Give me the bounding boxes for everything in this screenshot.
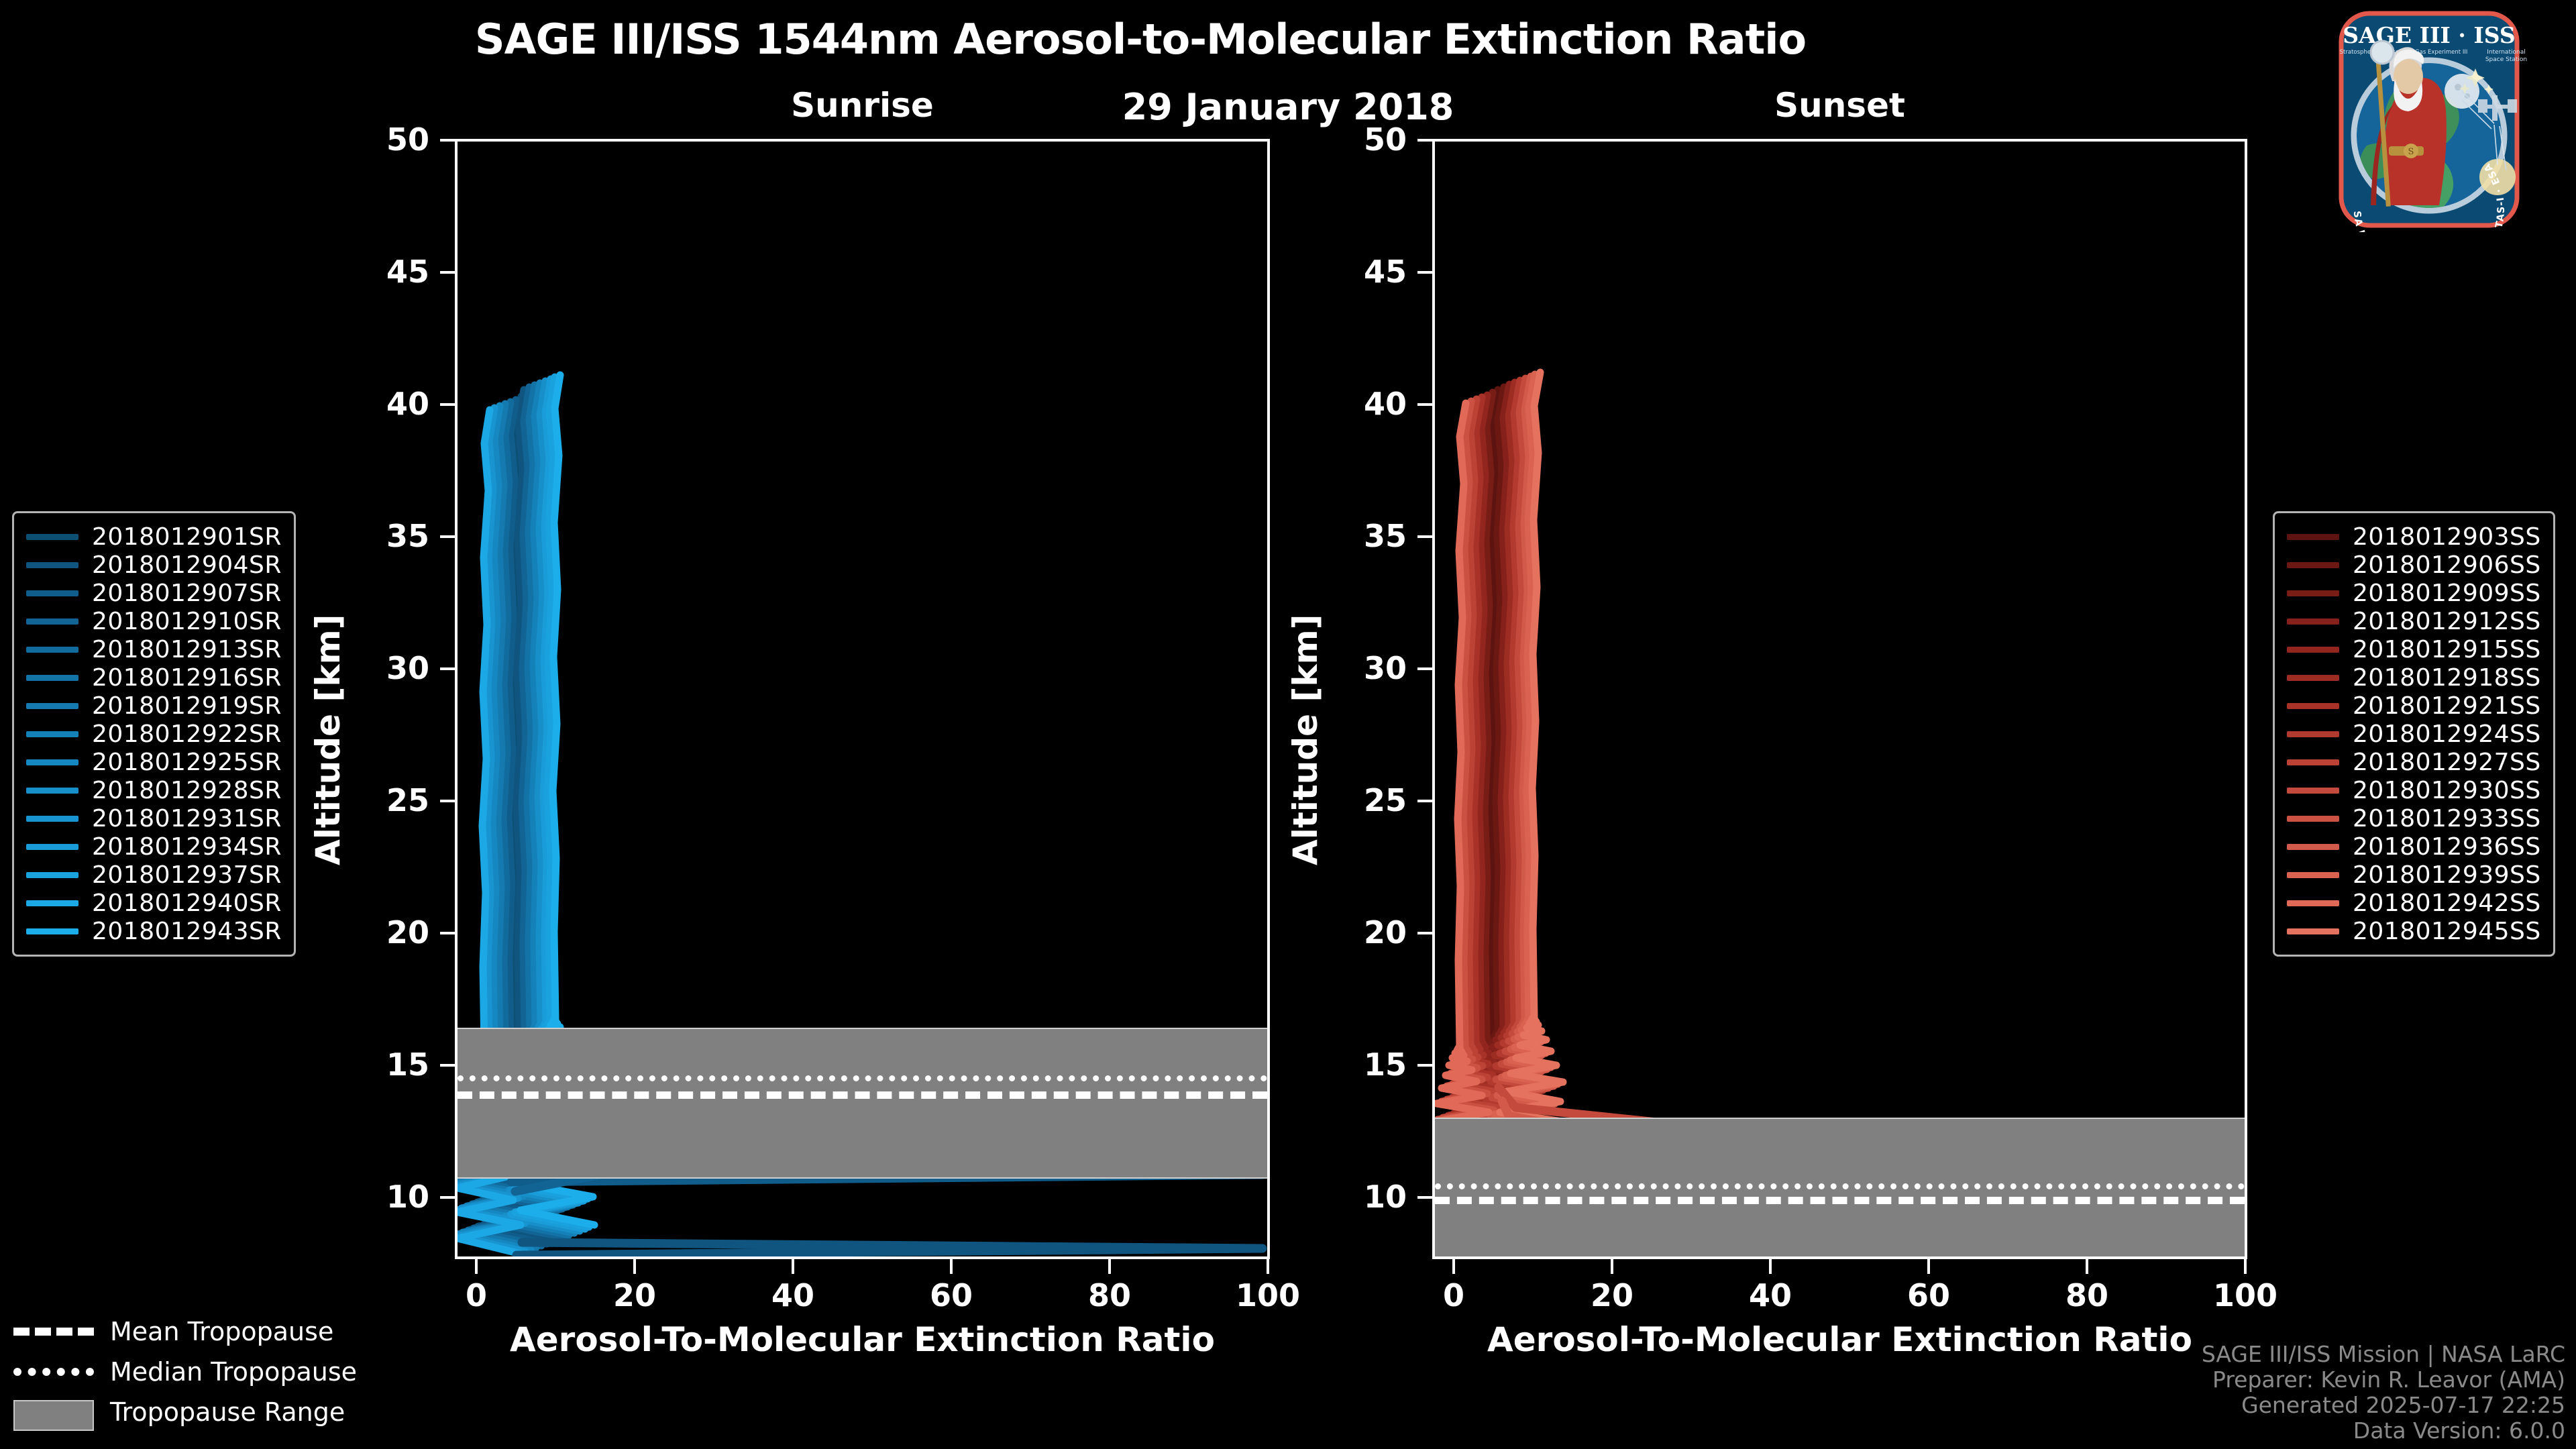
- dotted-line-icon: [13, 1364, 94, 1380]
- legend-item-label: 2018012918SS: [2353, 664, 2541, 692]
- legend-color-swatch: [2287, 788, 2339, 794]
- y-tick-label-35-left: 35: [329, 518, 429, 554]
- legend-color-swatch: [2287, 844, 2339, 850]
- tropopause-range-band-sunrise: [458, 1028, 1267, 1179]
- legend-sunset[interactable]: 2018012903SS2018012906SS2018012909SS2018…: [2273, 511, 2555, 957]
- x-tick-label-20-right: 20: [1558, 1277, 1666, 1313]
- legend-sunrise-item[interactable]: 2018012934SR: [26, 833, 282, 861]
- legend-sunrise-item[interactable]: 2018012916SR: [26, 663, 282, 692]
- mean-tropopause-line-sunset: [1435, 1197, 2245, 1204]
- legend-item-label: 2018012915SS: [2353, 636, 2541, 663]
- legend-item-label: 2018012901SR: [92, 523, 282, 551]
- plot-area-sunset: [1435, 142, 2245, 1256]
- y-tick-label-40-right: 40: [1306, 386, 1407, 422]
- key-row-median-tropopause: Median Tropopause: [13, 1352, 357, 1392]
- legend-item-label: 2018012909SS: [2353, 580, 2541, 607]
- legend-sunrise-item[interactable]: 2018012937SR: [26, 861, 282, 889]
- sage-iii-iss-mission-patch-logo: SAGE III · ISS Stratospheric Aerosol and…: [2293, 4, 2565, 232]
- legend-sunset-item[interactable]: 2018012921SS: [2287, 692, 2541, 720]
- x-tick-label-100-left: 100: [1214, 1277, 1322, 1313]
- legend-item-label: 2018012925SR: [92, 749, 282, 776]
- legend-sunrise-item[interactable]: 2018012907SR: [26, 579, 282, 607]
- y-tick-label-35-right: 35: [1306, 518, 1407, 554]
- legend-color-swatch: [2287, 562, 2339, 568]
- legend-color-swatch: [2287, 703, 2339, 709]
- legend-item-label: 2018012937SR: [92, 861, 282, 889]
- svg-text:International: International: [2487, 49, 2525, 56]
- legend-color-swatch: [2287, 900, 2339, 906]
- svg-text:SAGE III · ISS: SAGE III · ISS: [2343, 22, 2515, 48]
- legend-item-label: 2018012921SS: [2353, 692, 2541, 720]
- panel-title-sunset: Sunset: [1432, 86, 2247, 125]
- legend-sunset-item[interactable]: 2018012930SS: [2287, 776, 2541, 804]
- legend-sunset-item[interactable]: 2018012933SS: [2287, 804, 2541, 833]
- legend-color-swatch: [26, 534, 78, 540]
- credits-block: SAGE III/ISS Mission | NASA LaRC Prepare…: [2202, 1342, 2565, 1444]
- y-tick-label-50-left: 50: [329, 121, 429, 158]
- legend-color-swatch: [26, 900, 78, 906]
- tropopause-key: Mean Tropopause Median Tropopause Tropop…: [13, 1311, 357, 1432]
- legend-sunset-item[interactable]: 2018012936SS: [2287, 833, 2541, 861]
- legend-color-swatch: [26, 647, 78, 653]
- legend-sunrise-item[interactable]: 2018012901SR: [26, 523, 282, 551]
- legend-color-swatch: [2287, 759, 2339, 765]
- key-label-median-tropopause: Median Tropopause: [110, 1357, 357, 1387]
- x-tick-label-40-left: 40: [739, 1277, 847, 1313]
- legend-item-label: 2018012939SS: [2353, 861, 2541, 889]
- legend-sunrise[interactable]: 2018012901SR2018012904SR2018012907SR2018…: [12, 511, 296, 957]
- median-tropopause-line-sunrise: [458, 1075, 1267, 1081]
- legend-item-label: 2018012930SS: [2353, 777, 2541, 804]
- legend-color-swatch: [2287, 928, 2339, 934]
- y-tick-label-15-left: 15: [329, 1046, 429, 1083]
- y-tick-label-40-left: 40: [329, 386, 429, 422]
- credit-line-mission: SAGE III/ISS Mission | NASA LaRC: [2202, 1342, 2565, 1367]
- legend-item-label: 2018012912SS: [2353, 608, 2541, 635]
- legend-sunrise-item[interactable]: 2018012913SR: [26, 635, 282, 663]
- legend-color-swatch: [26, 731, 78, 737]
- legend-item-label: 2018012934SR: [92, 833, 282, 861]
- key-label-tropopause-range: Tropopause Range: [110, 1397, 345, 1427]
- legend-item-label: 2018012922SR: [92, 720, 282, 748]
- legend-item-label: 2018012906SS: [2353, 551, 2541, 579]
- y-tick-label-10-right: 10: [1306, 1179, 1407, 1215]
- y-axis-title-sunset: Altitude [km]: [1286, 614, 1325, 865]
- legend-item-label: 2018012943SR: [92, 918, 282, 945]
- legend-item-label: 2018012936SS: [2353, 833, 2541, 861]
- y-tick-label-50-right: 50: [1306, 121, 1407, 158]
- legend-item-label: 2018012924SS: [2353, 720, 2541, 748]
- legend-color-swatch: [2287, 731, 2339, 737]
- legend-color-swatch: [2287, 619, 2339, 625]
- legend-sunrise-item[interactable]: 2018012943SR: [26, 917, 282, 945]
- x-tick-label-60-right: 60: [1875, 1277, 1982, 1313]
- x-tick-label-100-right: 100: [2192, 1277, 2299, 1313]
- legend-item-label: 2018012919SR: [92, 692, 282, 720]
- legend-color-swatch: [26, 872, 78, 878]
- legend-sunset-item[interactable]: 2018012906SS: [2287, 551, 2541, 579]
- credit-line-data-version: Data Version: 6.0.0: [2202, 1418, 2565, 1444]
- legend-item-label: 2018012913SR: [92, 636, 282, 663]
- legend-sunrise-item[interactable]: 2018012904SR: [26, 551, 282, 579]
- y-tick-label-20-right: 20: [1306, 914, 1407, 951]
- x-tick-label-40-right: 40: [1717, 1277, 1824, 1313]
- legend-sunrise-item[interactable]: 2018012922SR: [26, 720, 282, 748]
- legend-sunrise-item[interactable]: 2018012928SR: [26, 776, 282, 804]
- legend-color-swatch: [2287, 816, 2339, 822]
- legend-item-label: 2018012927SS: [2353, 749, 2541, 776]
- x-tick-label-0-right: 0: [1400, 1277, 1507, 1313]
- legend-color-swatch: [2287, 872, 2339, 878]
- legend-sunset-item[interactable]: 2018012945SS: [2287, 917, 2541, 945]
- y-tick-label-45-left: 45: [329, 254, 429, 290]
- x-tick-label-80-left: 80: [1056, 1277, 1163, 1313]
- legend-sunset-item[interactable]: 2018012918SS: [2287, 663, 2541, 692]
- credit-line-preparer: Preparer: Kevin R. Leavor (AMA): [2202, 1367, 2565, 1393]
- legend-sunset-item[interactable]: 2018012909SS: [2287, 579, 2541, 607]
- x-tick-label-80-right: 80: [2033, 1277, 2141, 1313]
- legend-sunset-item[interactable]: 2018012912SS: [2287, 607, 2541, 635]
- legend-item-label: 2018012931SR: [92, 805, 282, 833]
- legend-color-swatch: [2287, 534, 2339, 540]
- profile-lines-sunset: [1435, 142, 2245, 1256]
- legend-color-swatch: [2287, 590, 2339, 596]
- legend-item-label: 2018012910SR: [92, 608, 282, 635]
- plot-area-sunrise: [458, 142, 1267, 1256]
- x-tick-label-20-left: 20: [581, 1277, 688, 1313]
- legend-sunset-item[interactable]: 2018012927SS: [2287, 748, 2541, 776]
- y-tick-label-20-left: 20: [329, 914, 429, 951]
- legend-color-swatch: [26, 590, 78, 596]
- legend-color-swatch: [26, 619, 78, 625]
- credit-line-generated: Generated 2025-07-17 22:25: [2202, 1393, 2565, 1418]
- legend-sunrise-item[interactable]: 2018012925SR: [26, 748, 282, 776]
- x-axis-title-sunset: Aerosol-To-Molecular Extinction Ratio: [1432, 1320, 2247, 1359]
- legend-color-swatch: [26, 816, 78, 822]
- plot-panel-sunset: [1432, 139, 2247, 1259]
- median-tropopause-line-sunset: [1435, 1183, 2245, 1189]
- x-tick-label-60-left: 60: [898, 1277, 1005, 1313]
- svg-text:S: S: [2408, 147, 2414, 157]
- page-title: SAGE III/ISS 1544nm Aerosol-to-Molecular…: [0, 15, 2281, 64]
- key-row-mean-tropopause: Mean Tropopause: [13, 1311, 357, 1352]
- legend-sunrise-item[interactable]: 2018012940SR: [26, 889, 282, 917]
- x-axis-title-sunrise: Aerosol-To-Molecular Extinction Ratio: [455, 1320, 1270, 1359]
- legend-item-label: 2018012945SS: [2353, 918, 2541, 945]
- legend-item-label: 2018012903SS: [2353, 523, 2541, 551]
- key-row-tropopause-range: Tropopause Range: [13, 1392, 357, 1432]
- y-tick-label-15-right: 15: [1306, 1046, 1407, 1083]
- legend-color-swatch: [2287, 675, 2339, 681]
- svg-text:Space Station: Space Station: [2485, 56, 2527, 63]
- legend-item-label: 2018012907SR: [92, 580, 282, 607]
- legend-color-swatch: [26, 759, 78, 765]
- legend-color-swatch: [26, 562, 78, 568]
- legend-color-swatch: [26, 788, 78, 794]
- legend-item-label: 2018012904SR: [92, 551, 282, 579]
- legend-sunset-item[interactable]: 2018012915SS: [2287, 635, 2541, 663]
- legend-sunrise-item[interactable]: 2018012910SR: [26, 607, 282, 635]
- legend-item-label: 2018012933SS: [2353, 805, 2541, 833]
- legend-sunset-item[interactable]: 2018012924SS: [2287, 720, 2541, 748]
- legend-item-label: 2018012916SR: [92, 664, 282, 692]
- panel-title-sunrise: Sunrise: [455, 86, 1270, 125]
- legend-sunset-item[interactable]: 2018012903SS: [2287, 523, 2541, 551]
- legend-color-swatch: [2287, 647, 2339, 653]
- y-axis-title-sunrise: Altitude [km]: [309, 614, 347, 865]
- legend-color-swatch: [26, 928, 78, 934]
- legend-color-swatch: [26, 703, 78, 709]
- legend-sunrise-item[interactable]: 2018012931SR: [26, 804, 282, 833]
- dashed-line-icon: [13, 1324, 94, 1340]
- gray-patch-icon: [13, 1404, 94, 1420]
- legend-sunset-item[interactable]: 2018012939SS: [2287, 861, 2541, 889]
- legend-sunrise-item[interactable]: 2018012919SR: [26, 692, 282, 720]
- legend-item-label: 2018012928SR: [92, 777, 282, 804]
- legend-item-label: 2018012940SR: [92, 890, 282, 917]
- legend-color-swatch: [26, 675, 78, 681]
- legend-sunset-item[interactable]: 2018012942SS: [2287, 889, 2541, 917]
- legend-item-label: 2018012942SS: [2353, 890, 2541, 917]
- mean-tropopause-line-sunrise: [458, 1091, 1267, 1099]
- key-label-mean-tropopause: Mean Tropopause: [110, 1317, 333, 1346]
- y-tick-label-10-left: 10: [329, 1179, 429, 1215]
- y-tick-label-45-right: 45: [1306, 254, 1407, 290]
- legend-color-swatch: [26, 844, 78, 850]
- x-tick-label-0-left: 0: [423, 1277, 530, 1313]
- plot-panel-sunrise: [455, 139, 1270, 1259]
